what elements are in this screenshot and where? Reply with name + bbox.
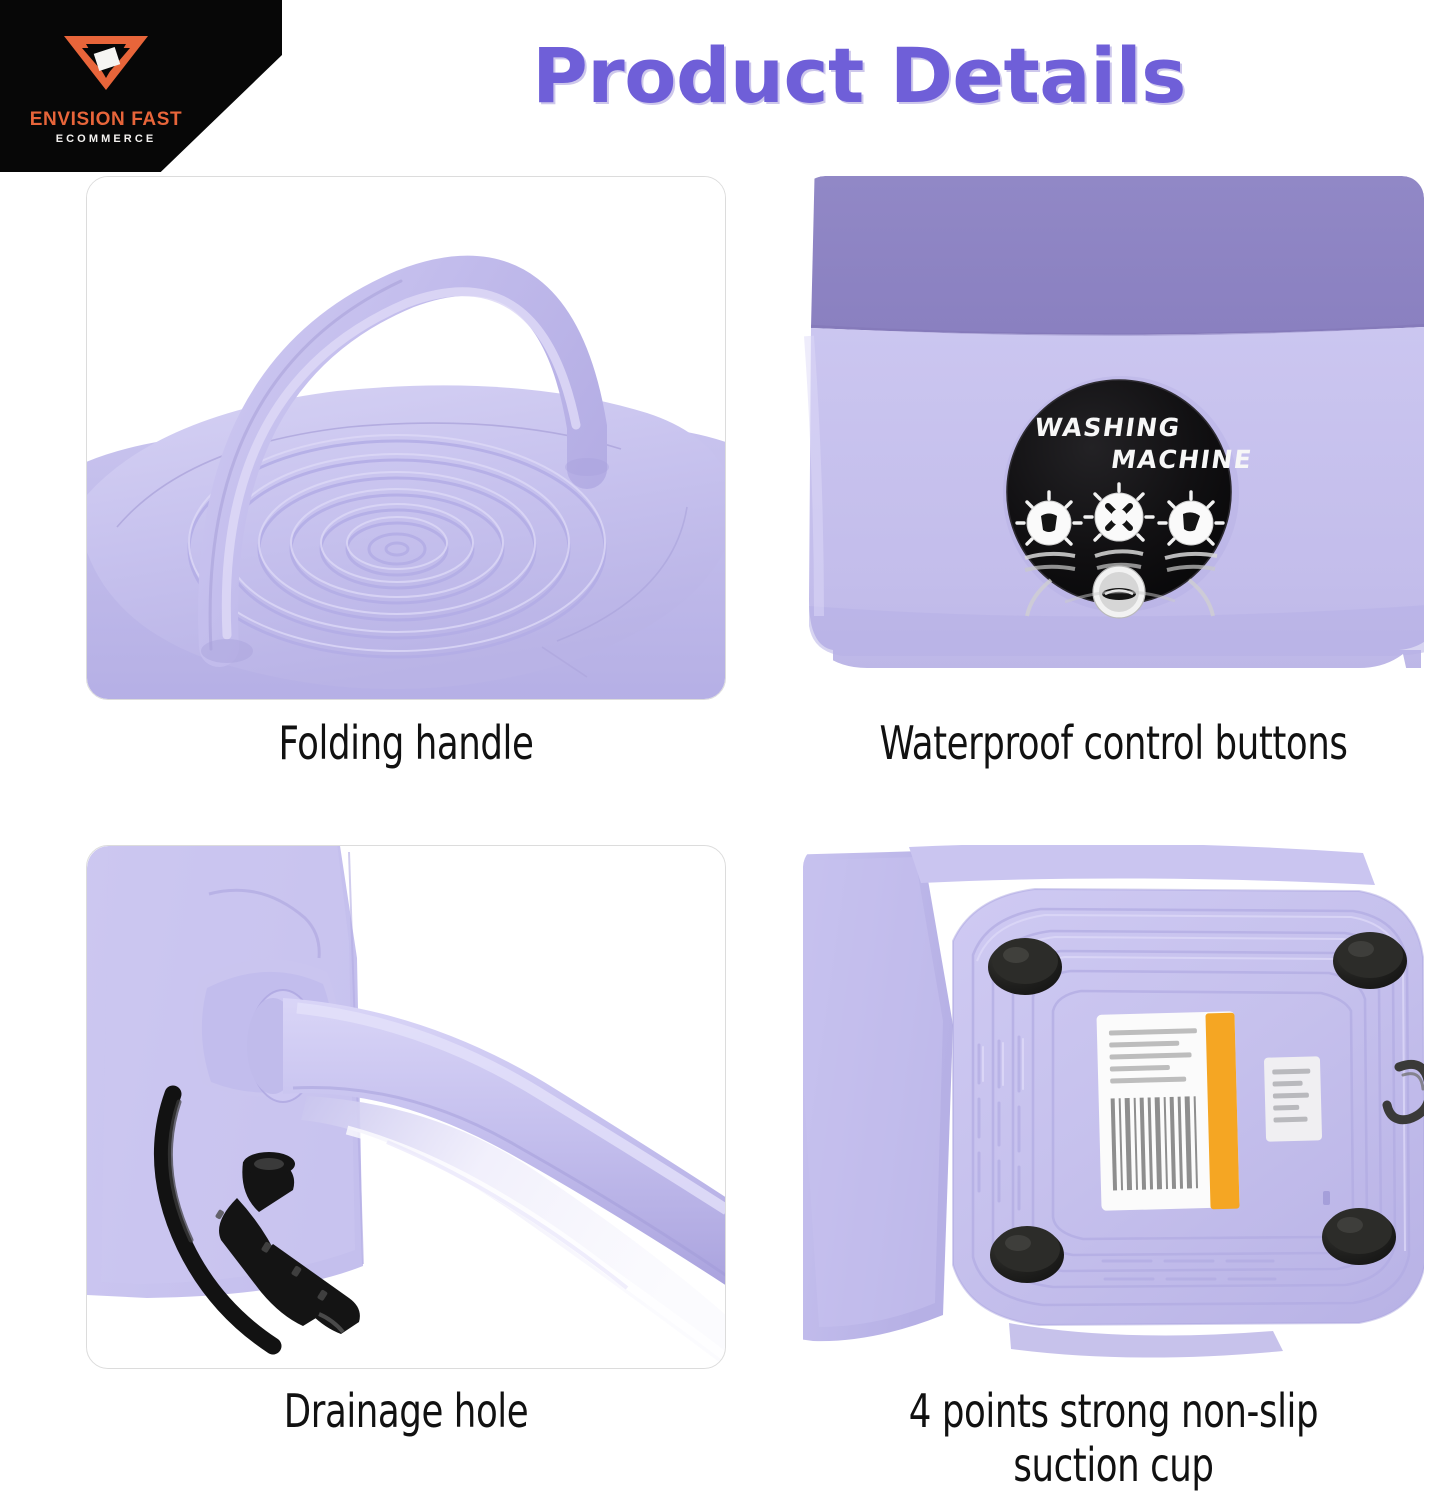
product-photo-folding-handle (86, 176, 726, 700)
detail-panel-control-buttons: WASHING MACHINE (803, 176, 1424, 700)
product-details-page: ENVISION FAST ECOMMERCE Product Details (0, 0, 1436, 1500)
product-photo-drainage-hole (86, 845, 726, 1369)
product-photo-suction-cups (803, 845, 1424, 1369)
caption-drainage-hole: Drainage hole (131, 1384, 681, 1438)
details-grid: WASHING MACHINE (0, 0, 1436, 1500)
caption-control-buttons: Waterproof control buttons (846, 716, 1380, 770)
caption-suction-cup: 4 points strong non-slip suction cup (846, 1384, 1380, 1493)
svg-text:WASHING: WASHING (1033, 413, 1183, 442)
product-photo-control-buttons: WASHING MACHINE (803, 176, 1424, 700)
svg-text:MACHINE: MACHINE (1109, 445, 1254, 474)
caption-suction-cup-line-1: 4 points strong non-slip (846, 1384, 1380, 1438)
caption-folding-handle: Folding handle (131, 716, 681, 770)
detail-panel-folding-handle (86, 176, 726, 700)
detail-panel-suction-cup (803, 845, 1424, 1369)
caption-suction-cup-line-2: suction cup (846, 1438, 1380, 1492)
detail-panel-drainage-hole (86, 845, 726, 1369)
